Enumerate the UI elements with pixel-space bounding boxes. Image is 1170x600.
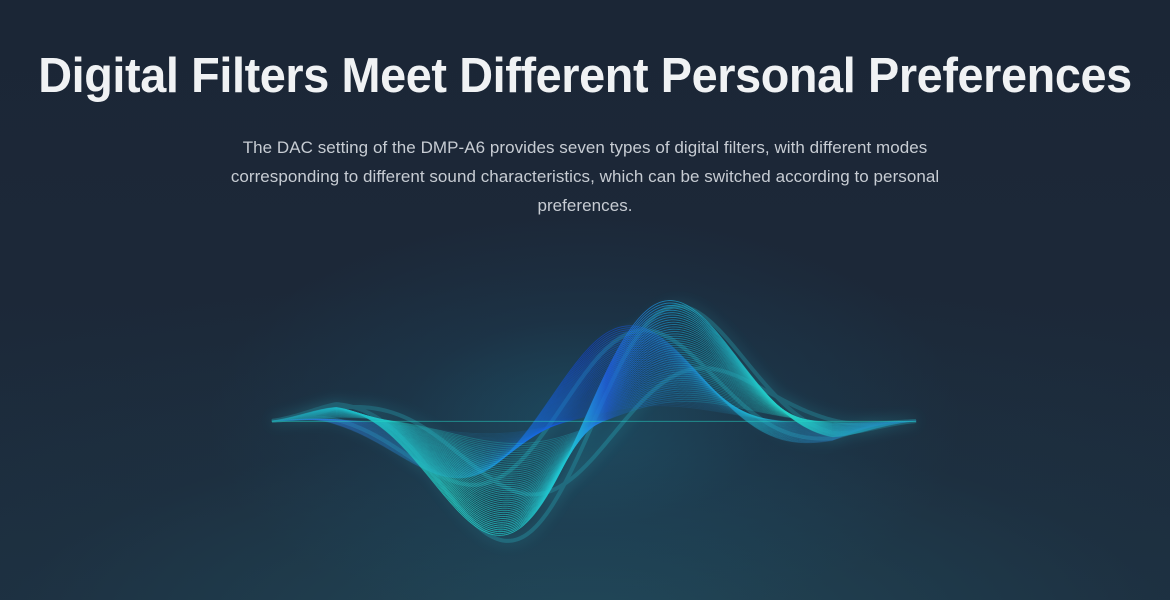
waveform-curve [272,345,916,498]
waveform-curve [272,347,916,470]
waveform-curve [272,401,916,438]
waveform-ribbon-primary [272,301,916,536]
waveform-curve [272,337,916,473]
waveform-curve [272,381,916,466]
hero-banner: Digital Filters Meet Different Personal … [0,0,1170,600]
waveform-curve [272,393,916,444]
waveform-curve [272,374,916,472]
waveform-curve [272,356,916,465]
waveform-curve [272,354,916,466]
waveform-curve [272,361,916,484]
waveform-glow-curve [272,330,916,485]
waveform-curve [272,305,916,531]
waveform-curve [272,398,916,440]
waveform-curve [272,391,916,445]
waveform-curve [272,310,916,528]
waveform-curve [272,401,916,443]
waveform-curve [272,330,916,477]
waveform-curve [272,406,916,434]
waveform-curve [272,303,916,533]
waveform-curve [272,396,916,441]
waveform-curve [272,404,916,435]
waveform-curve [272,317,916,522]
waveform-curve [272,358,916,464]
waveform-curve [272,301,916,536]
waveform-curve [272,370,916,476]
waveform-curve [272,382,916,450]
waveform-curve [272,320,916,521]
waveform-curve [272,374,916,456]
waveform-curve [272,394,916,442]
waveform-curve [272,363,916,482]
waveform-curve [272,335,916,474]
waveform-curve [272,372,916,456]
waveform-curve [272,359,916,463]
waveform-curve [272,332,916,511]
waveform-curve [272,341,916,472]
waveform-curve [272,338,916,504]
waveform-curve [272,381,916,451]
waveform-curve [272,329,916,512]
waveform-curve [272,368,916,458]
waveform-curve [272,352,916,467]
waveform-curve [272,341,916,503]
waveform-curve [272,350,916,467]
waveform-curve [272,367,916,460]
waveform-curve [272,379,916,452]
waveform-curve [272,384,916,449]
page-title: Digital Filters Meet Different Personal … [26,0,1143,106]
waveform-curve [272,326,916,478]
waveform-curve [272,334,916,509]
waveform-curve [272,325,916,517]
waveform-curve [272,377,916,453]
waveform-curve [272,365,916,480]
waveform-curve [272,386,916,448]
waveform-baseline [272,420,916,424]
waveform-curve [272,389,916,457]
waveform-curve [272,388,916,447]
waveform-curve [272,348,916,468]
waveform-curve [272,389,916,445]
waveform-curve [272,376,916,470]
waveform-curve [272,368,916,479]
waveform-curve [272,350,916,495]
waveform-curve [272,397,916,448]
waveform-curve [272,322,916,518]
waveform-ribbon-secondary [272,326,916,478]
waveform-curve [272,378,916,467]
waveform-curve [272,402,916,436]
waveform-glow-curve [272,368,916,494]
waveform-curve [272,354,916,490]
waveform-curve [272,315,916,524]
waveform-curve [272,375,916,454]
waveform-curve [272,365,916,460]
waveform-curve [272,328,916,477]
waveform-glow-curve [272,306,916,541]
waveform-curve [272,333,916,474]
waveform-curve [272,345,916,470]
waveform-curve [272,343,916,471]
waveform-curve [272,348,916,497]
waveform-curve [272,352,916,493]
waveform-curve [272,363,916,461]
waveform-curve [272,395,916,450]
waveform-curve [272,336,916,507]
waveform-curve [272,383,916,464]
page-subtitle: The DAC setting of the DMP-A6 provides s… [190,133,980,220]
waveform-curve [272,399,916,438]
waveform-curve [272,339,916,472]
waveform-curve [272,357,916,489]
waveform-curve [272,332,916,476]
waveform-curve [272,327,916,515]
waveform-curve [272,343,916,501]
waveform-curve [272,391,916,455]
waveform-curve [272,308,916,530]
waveform-curve [272,313,916,526]
hero-text-block: Digital Filters Meet Different Personal … [0,0,1170,220]
waveform-curve [272,385,916,461]
waveform-curve [272,387,916,459]
waveform-curve [272,361,916,462]
waveform-curve [272,399,916,445]
waveform-curve [272,393,916,452]
background-glow [205,207,965,600]
waveform-curve [272,359,916,487]
waveform-glow-layer [272,306,916,541]
waveform-curve [272,370,916,457]
waveform-curve [272,372,916,474]
